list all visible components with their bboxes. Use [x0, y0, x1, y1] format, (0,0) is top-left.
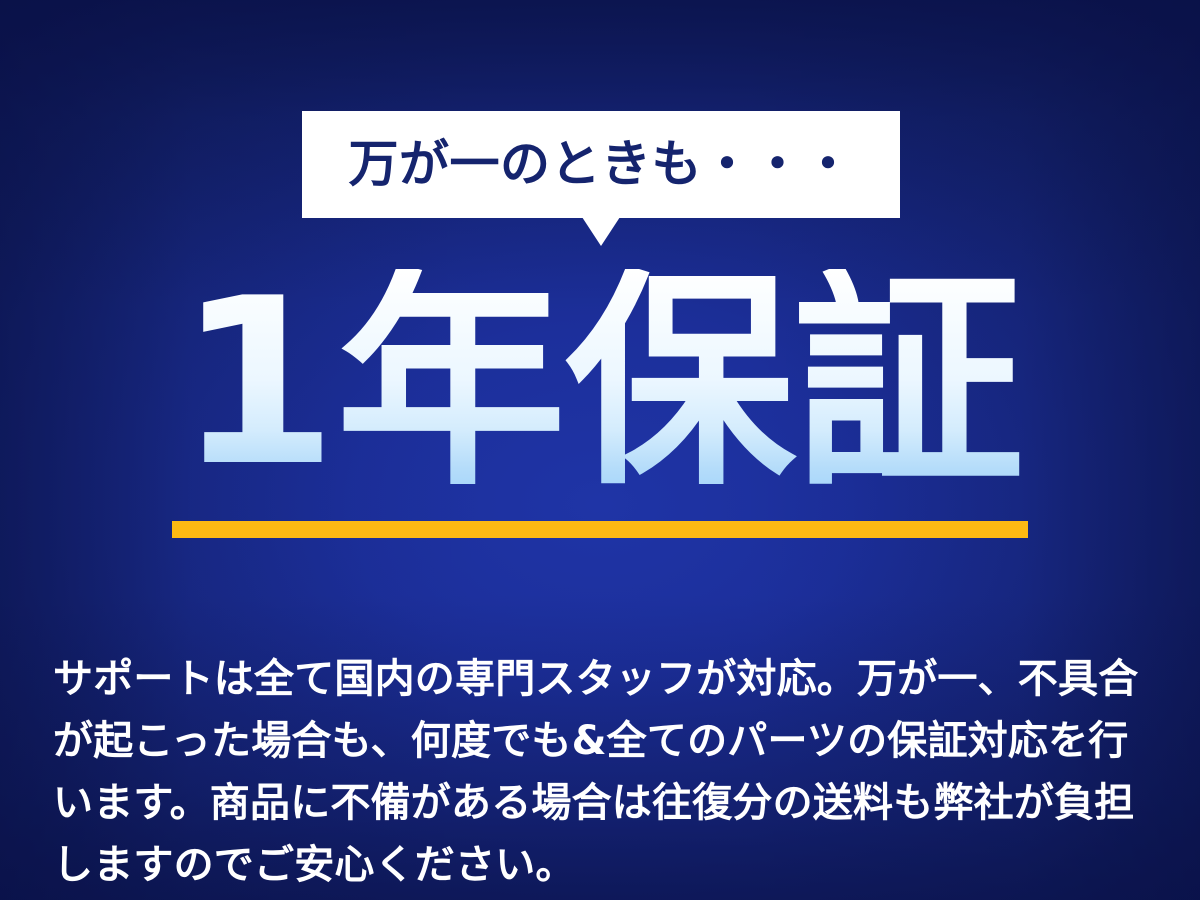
- speech-bubble-tail-icon: [582, 217, 620, 246]
- headline-text: 1年保証: [177, 269, 1022, 499]
- speech-bubble-text: 万が一のときも・・・: [349, 139, 854, 189]
- headline-block: 1年保証: [0, 258, 1200, 510]
- yellow-divider: [172, 521, 1028, 538]
- speech-bubble: 万が一のときも・・・: [302, 111, 900, 218]
- body-description: サポートは全て国内の専門スタッフが対応。万が一、不具合が起こった場合も、何度でも…: [53, 648, 1153, 896]
- warranty-promo-banner: 万が一のときも・・・ 1年保証 サポートは全て国内の専門スタッフが対応。万が一、…: [0, 0, 1200, 900]
